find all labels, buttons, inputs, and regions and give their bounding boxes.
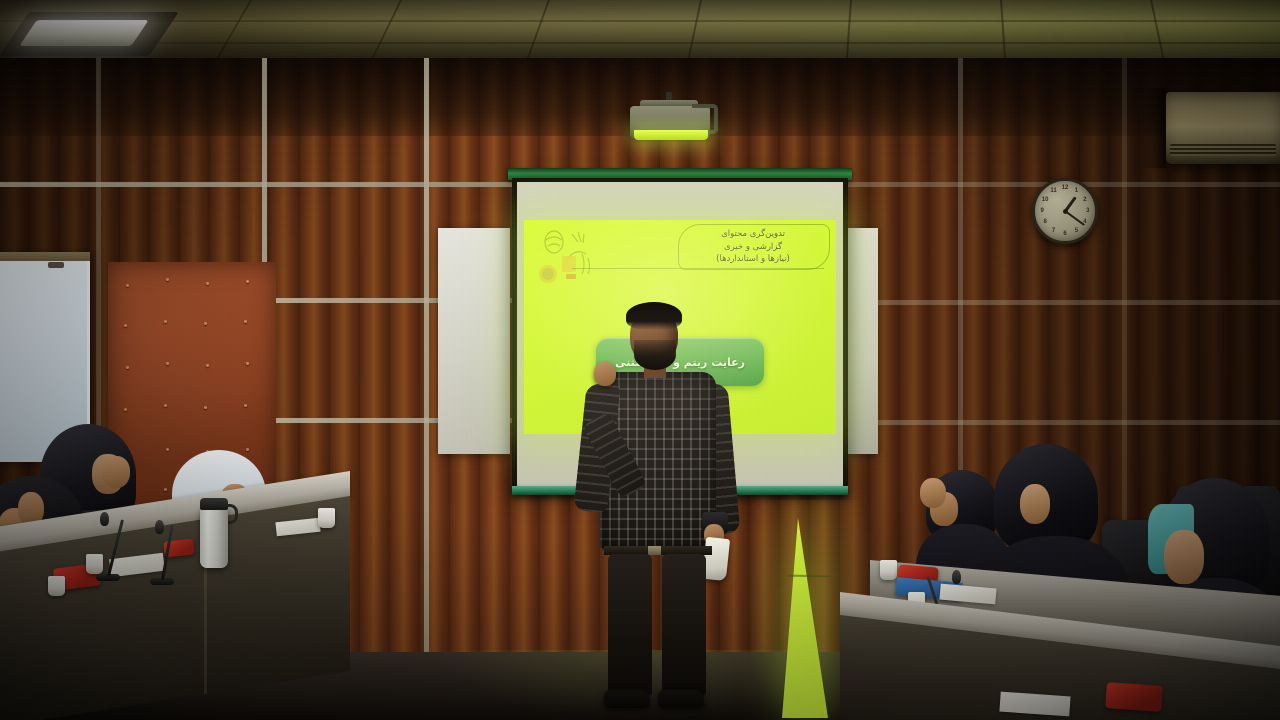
wall-grout-line — [840, 300, 1280, 305]
ac-vent-louvers — [1170, 144, 1276, 156]
wall-grout-line — [424, 58, 429, 658]
ceiling-projector — [630, 100, 722, 144]
presenter-leg-right — [662, 554, 706, 696]
ac-unit-shadow — [1140, 88, 1166, 168]
presenter-shoe-right — [658, 690, 704, 708]
clock-center-pin — [1063, 209, 1068, 214]
slide-decorative-logo-icon — [538, 228, 602, 288]
vacuum-flask[interactable] — [200, 506, 228, 568]
slide-title-line-2: گزارشی و خبری — [685, 241, 821, 254]
attendee-hand — [920, 478, 946, 508]
paper-cup[interactable] — [48, 576, 65, 596]
attendee-face — [1164, 530, 1204, 584]
whiteboard-rail — [0, 252, 90, 261]
wall-panel-right — [848, 228, 878, 454]
projector-lens-glow — [634, 130, 708, 140]
presenter — [556, 300, 766, 720]
ceiling — [0, 0, 1280, 62]
thermos-cap — [200, 498, 228, 510]
paper-cup[interactable] — [318, 508, 335, 528]
whiteboard-clip — [48, 262, 64, 268]
paper-cup[interactable] — [880, 560, 897, 580]
presenter-legs — [606, 554, 710, 696]
conference-room-scene: 12 1 2 3 4 5 6 7 8 9 10 11 — [0, 0, 1280, 720]
ceiling-shading — [0, 0, 1280, 62]
presenter-hair — [626, 302, 682, 330]
attendee-hand — [102, 456, 130, 488]
presenter-leg-left — [608, 554, 652, 696]
presenter-beard — [634, 340, 676, 370]
presenter-shoe-left — [604, 690, 650, 708]
wall-grout-line — [848, 420, 1280, 425]
presenter-raised-hand — [594, 362, 616, 386]
split-air-conditioner — [1166, 92, 1280, 164]
slide-title-line-1: تدوین‌گری محتوای — [685, 228, 821, 241]
illuminated-lectern — [782, 518, 828, 718]
wall-grout-line — [0, 182, 520, 187]
attendee-hand — [1020, 484, 1050, 524]
wall-panel-left — [438, 228, 510, 454]
slide-title-line-3: (نیازها و استانداردها) — [685, 253, 821, 266]
slide-title-block: تدوین‌گری محتوای گزارشی و خبری (نیازها و… — [678, 224, 830, 270]
paper-cup[interactable] — [86, 554, 103, 574]
snack-packet[interactable] — [1105, 682, 1163, 712]
wall-clock: 12 1 2 3 4 5 6 7 8 9 10 11 — [1032, 178, 1098, 244]
